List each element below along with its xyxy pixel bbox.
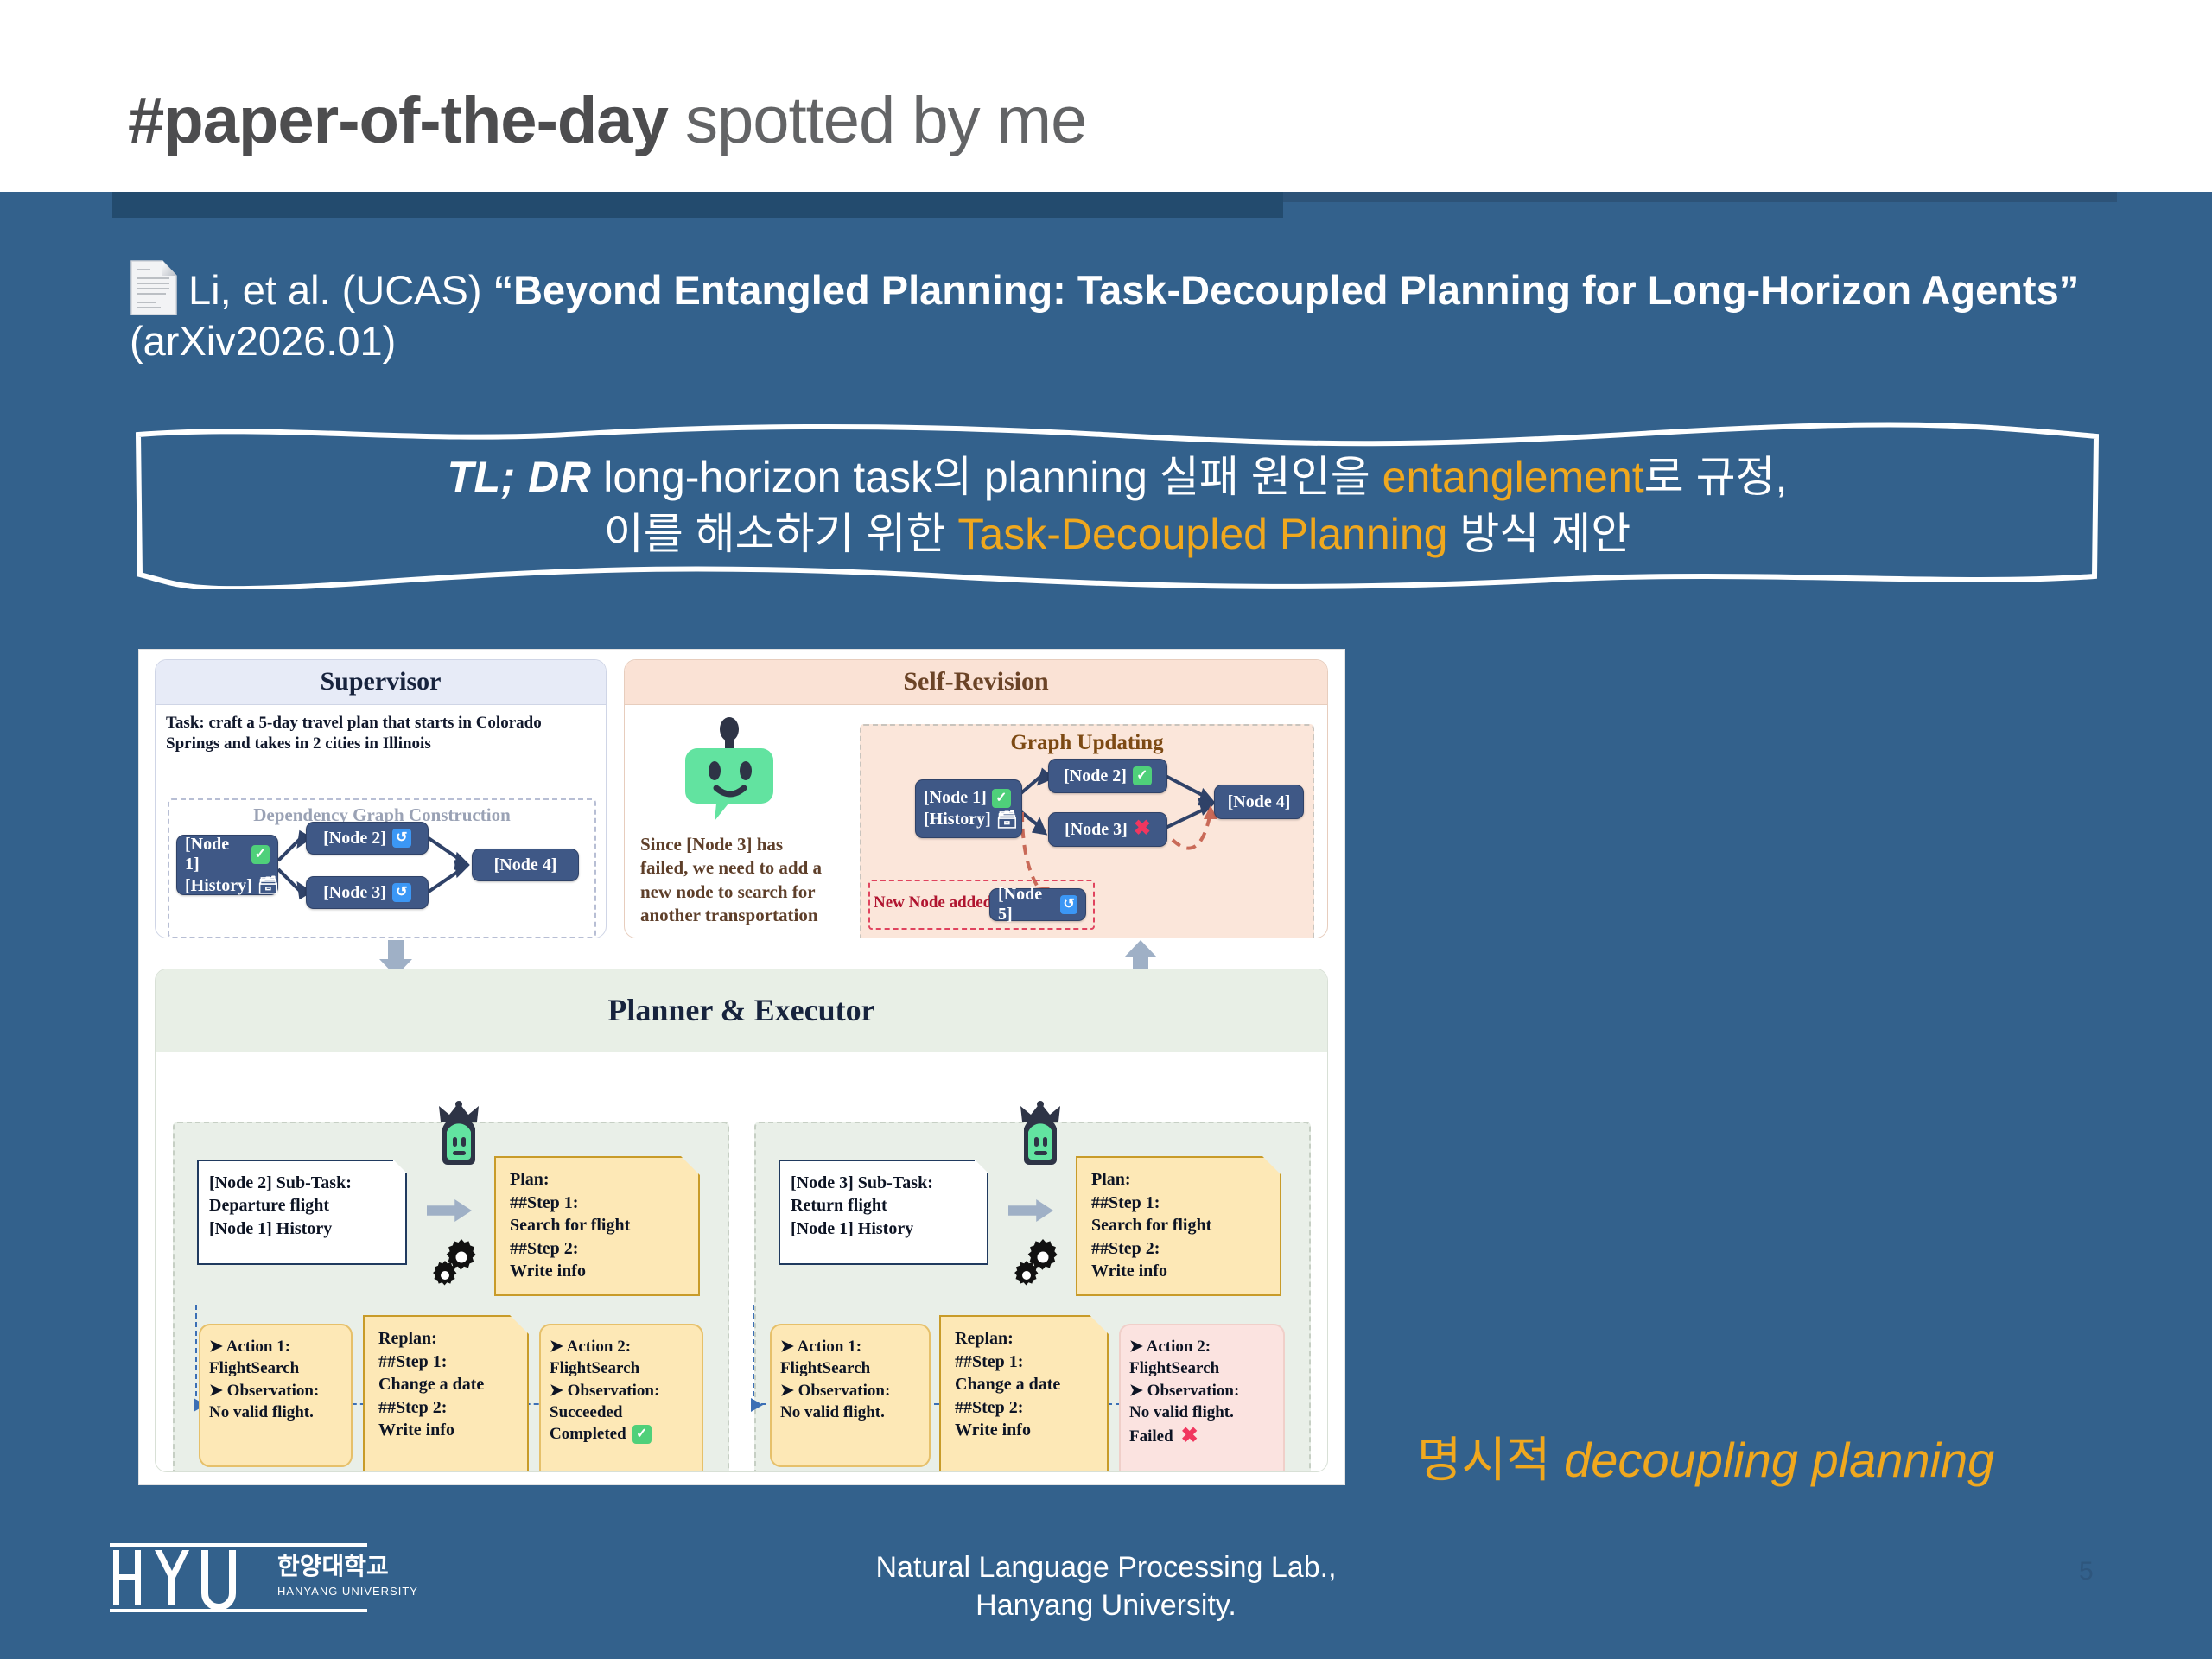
- planner-executor-panel: Planner & Executor [Node 2] Sub-Task: De…: [155, 969, 1328, 1472]
- citation-paper-title: Beyond Entangled Planning: Task-Decouple…: [513, 267, 2059, 313]
- sync-icon: ↺: [1060, 895, 1077, 914]
- gupd-node-3-label: [Node 3]: [1065, 820, 1128, 840]
- gupd-node-3[interactable]: [Node 3] ✖: [1048, 812, 1167, 847]
- self-revision-panel: Self-Revision Since [Node 3] has failed,…: [624, 659, 1328, 938]
- crowned-robot-icon: [1008, 1099, 1072, 1179]
- planner-column-left: [Node 2] Sub-Task: Departure flight [Nod…: [173, 1122, 729, 1472]
- slide-root: #paper-of-the-day spotted by me Li, et a…: [0, 0, 2212, 1659]
- dgc-node-3[interactable]: [Node 3] ↺: [306, 876, 429, 909]
- sync-icon: ↺: [392, 829, 411, 848]
- citation-quote-close: ”: [2059, 267, 2080, 313]
- right-action2-l2: FlightSearch: [1129, 1357, 1283, 1379]
- right-plan-box: Plan: ##Step 1: Search for flight ##Step…: [1076, 1156, 1281, 1296]
- sync-icon: ↺: [392, 883, 411, 902]
- left-action2-l1: ➤ Action 2:: [550, 1336, 702, 1357]
- supervisor-body: Task: craft a 5-day travel plan that sta…: [156, 705, 606, 753]
- left-action1-l3: ➤ Observation:: [209, 1380, 351, 1402]
- gears-icon: [429, 1234, 482, 1287]
- dgc-node-4[interactable]: [Node 4]: [472, 849, 579, 881]
- right-plan-l4: Write info: [1091, 1260, 1280, 1283]
- supervisor-task-label: Task:: [166, 714, 205, 732]
- gupd-node-5-label: [Node 5]: [998, 885, 1054, 925]
- tldr-line2-a: 이를 해소하기 위한: [604, 510, 958, 558]
- right-replan-l3: ##Step 2:: [955, 1396, 1107, 1420]
- gupd-node-1-line2: [History]: [924, 810, 991, 829]
- page-number: 5: [2079, 1557, 2094, 1586]
- tldr-line1-highlight: entanglement: [1382, 453, 1644, 501]
- right-action1-box: ➤ Action 1: FlightSearch ➤ Observation: …: [770, 1324, 931, 1467]
- gears-icon: [1010, 1234, 1064, 1287]
- korean-annotation: 명시적 decoupling planning: [1417, 1421, 1994, 1491]
- right-subtask-l1: [Node 3] Sub-Task:: [791, 1172, 987, 1194]
- gupd-node-2[interactable]: [Node 2] ✓: [1048, 759, 1167, 793]
- ok-check-icon: ✓: [632, 1425, 652, 1444]
- tldr-line-1: TL; DR long-horizon task의 planning 실패 원인…: [448, 448, 1788, 505]
- page-title-rest: spotted by me: [668, 84, 1087, 157]
- left-subtask-l1: [Node 2] Sub-Task:: [209, 1172, 405, 1194]
- right-action2-box: ➤ Action 2: FlightSearch ➤ Observation: …: [1119, 1324, 1285, 1472]
- tldr-line2-highlight: Task-Decoupled Planning: [957, 510, 1447, 558]
- supervisor-header: Supervisor: [156, 660, 606, 705]
- korean-annotation-prefix: 명시적: [1417, 1433, 1564, 1487]
- left-plan-l1: ##Step 1:: [510, 1192, 698, 1215]
- page-title-bold: #paper-of-the-day: [128, 84, 668, 157]
- citation-arxiv-id: (arXiv2026.01): [130, 318, 396, 364]
- left-subtask-l3: [Node 1] History: [209, 1217, 405, 1240]
- left-action1-l2: FlightSearch: [209, 1357, 351, 1379]
- right-replan-l1: ##Step 1:: [955, 1351, 1107, 1374]
- x-mark-icon: ✖: [1134, 817, 1151, 842]
- dgc-node-1-line2: [History]: [185, 876, 252, 896]
- right-loop-arrow-icon: [746, 1396, 765, 1414]
- left-replan-l4: Write info: [378, 1419, 527, 1442]
- lab-line-1: Natural Language Processing Lab.,: [743, 1548, 1469, 1586]
- crowned-robot-icon: [427, 1099, 491, 1179]
- graph-updating-box: Graph Updating: [860, 724, 1314, 938]
- left-plan-title: Plan:: [510, 1168, 698, 1192]
- page-title: #paper-of-the-day spotted by me: [128, 83, 1086, 158]
- dgc-node-1[interactable]: [Node 1] ✓ [History] 🗃: [176, 835, 278, 895]
- right-plan-l3: ##Step 2:: [1091, 1237, 1280, 1261]
- right-action2-l3: ➤ Observation:: [1129, 1380, 1283, 1402]
- gupd-node-4-label: [Node 4]: [1228, 792, 1291, 812]
- left-plan-box: Plan: ##Step 1: Search for flight ##Step…: [494, 1156, 700, 1296]
- tldr-line1-b: 로 규정,: [1644, 453, 1788, 501]
- left-replan-l2: Change a date: [378, 1373, 527, 1396]
- hyu-logo-en: HANYANG UNIVERSITY: [277, 1585, 418, 1598]
- ok-check-icon: ✓: [992, 789, 1011, 808]
- self-revision-reason-text: Since [Node 3] has failed, we need to ad…: [640, 833, 823, 927]
- left-action2-l2: FlightSearch: [550, 1357, 702, 1379]
- left-replan-box: Replan: ##Step 1: Change a date ##Step 2…: [363, 1315, 529, 1472]
- gupd-node-1-line1: [Node 1]: [924, 788, 987, 808]
- hyu-logo-kr: 한양대학교: [277, 1553, 389, 1580]
- gupd-node-1[interactable]: [Node 1] ✓ [History] 🗃: [915, 779, 1022, 838]
- document-icon: [130, 259, 178, 316]
- lab-line-2: Hanyang University.: [743, 1586, 1469, 1624]
- left-plan-l3: ##Step 2:: [510, 1237, 698, 1261]
- right-subtask-box: [Node 3] Sub-Task: Return flight [Node 1…: [779, 1160, 988, 1265]
- left-action2-box: ➤ Action 2: FlightSearch ➤ Observation: …: [539, 1324, 703, 1472]
- right-plan-title: Plan:: [1091, 1168, 1280, 1192]
- planner-executor-header: Planner & Executor: [156, 969, 1327, 1052]
- left-action1-l4: No valid flight.: [209, 1402, 351, 1423]
- x-mark-icon: ✖: [1181, 1423, 1198, 1451]
- left-plan-l2: Search for flight: [510, 1214, 698, 1237]
- planner-column-right: [Node 3] Sub-Task: Return flight [Node 1…: [754, 1122, 1311, 1472]
- database-icon: 🗃: [996, 810, 1015, 829]
- right-subtask-l3: [Node 1] History: [791, 1217, 987, 1240]
- tldr-line-2: 이를 해소하기 위한 Task-Decoupled Planning 방식 제안: [604, 505, 1631, 563]
- dgc-node-1-line1: [Node 1]: [185, 835, 246, 874]
- tldr-label: TL; DR: [448, 453, 592, 501]
- dgc-node-2[interactable]: [Node 2] ↺: [306, 822, 429, 855]
- right-plan-l1: ##Step 1:: [1091, 1192, 1280, 1215]
- right-action1-l1: ➤ Action 1:: [780, 1336, 929, 1357]
- right-arrow-icon: [1008, 1199, 1053, 1222]
- ok-check-icon: ✓: [1133, 766, 1152, 785]
- left-action1-box: ➤ Action 1: FlightSearch ➤ Observation: …: [199, 1324, 353, 1467]
- tldr-line2-b: 방식 제안: [1447, 510, 1630, 558]
- lab-affiliation: Natural Language Processing Lab., Hanyan…: [743, 1548, 1469, 1624]
- right-action2-l4: No valid flight.: [1129, 1402, 1283, 1423]
- citation-quote-open: “: [493, 267, 514, 313]
- gupd-node-2-label: [Node 2]: [1064, 766, 1127, 786]
- dependency-graph-construction: Dependency Graph Construction [Node 1]: [168, 798, 596, 938]
- self-revision-header: Self-Revision: [625, 660, 1327, 705]
- gupd-node-5[interactable]: [Node 5] ↺: [989, 888, 1086, 921]
- right-action1-l2: FlightSearch: [780, 1357, 929, 1379]
- right-action1-l3: ➤ Observation:: [780, 1380, 929, 1402]
- right-plan-l2: Search for flight: [1091, 1214, 1280, 1237]
- dgc-node-2-label: [Node 2]: [323, 829, 386, 849]
- supervisor-task-text: Task: craft a 5-day travel plan that sta…: [156, 705, 606, 753]
- right-subtask-l2: Return flight: [791, 1194, 987, 1217]
- paper-figure: Supervisor Task: craft a 5-day travel pl…: [138, 649, 1345, 1485]
- supervisor-panel: Supervisor Task: craft a 5-day travel pl…: [155, 659, 607, 938]
- supervisor-task-body: craft a 5-day travel plan that starts in…: [166, 714, 542, 753]
- left-replan-title: Replan:: [378, 1327, 527, 1351]
- left-action2-l5: Completed: [550, 1423, 626, 1445]
- new-node-added-label: New Node added: [874, 893, 992, 912]
- hyu-logo: 한양대학교 HANYANG UNIVERSITY: [108, 1541, 454, 1614]
- right-replan-l4: Write info: [955, 1419, 1107, 1442]
- accent-bar-thick: [112, 192, 1283, 218]
- ok-check-icon: ✓: [251, 845, 270, 864]
- right-action2-l5: Failed: [1129, 1426, 1173, 1447]
- dgc-node-3-label: [Node 3]: [323, 883, 386, 903]
- database-icon: 🗃: [257, 876, 276, 895]
- korean-annotation-italic: decoupling planning: [1564, 1433, 1994, 1487]
- left-replan-l1: ##Step 1:: [378, 1351, 527, 1374]
- left-action1-l1: ➤ Action 1:: [209, 1336, 351, 1357]
- citation-authors: Li, et al. (UCAS): [188, 267, 493, 313]
- right-action2-l1: ➤ Action 2:: [1129, 1336, 1283, 1357]
- tldr-line1-a: long-horizon task의 planning 실패 원인을: [591, 453, 1382, 501]
- tldr-callout: TL; DR long-horizon task의 planning 실패 원인…: [135, 421, 2100, 589]
- right-arrow-icon: [427, 1199, 472, 1222]
- right-replan-l2: Change a date: [955, 1373, 1107, 1396]
- left-action2-l3: ➤ Observation:: [550, 1380, 702, 1402]
- right-replan-box: Replan: ##Step 1: Change a date ##Step 2…: [939, 1315, 1109, 1472]
- left-subtask-box: [Node 2] Sub-Task: Departure flight [Nod…: [197, 1160, 407, 1265]
- left-replan-l3: ##Step 2:: [378, 1396, 527, 1420]
- citation-line: Li, et al. (UCAS) “Beyond Entangled Plan…: [130, 259, 2108, 366]
- left-action2-l4: Succeeded: [550, 1402, 702, 1423]
- gupd-node-4[interactable]: [Node 4]: [1214, 785, 1304, 819]
- dgc-node-4-label: [Node 4]: [494, 855, 557, 875]
- left-subtask-l2: Departure flight: [209, 1194, 405, 1217]
- green-robot-icon: [666, 717, 792, 828]
- right-action1-l4: No valid flight.: [780, 1402, 929, 1423]
- left-plan-l4: Write info: [510, 1260, 698, 1283]
- right-replan-title: Replan:: [955, 1327, 1107, 1351]
- tldr-text: TL; DR long-horizon task의 planning 실패 원인…: [135, 421, 2100, 589]
